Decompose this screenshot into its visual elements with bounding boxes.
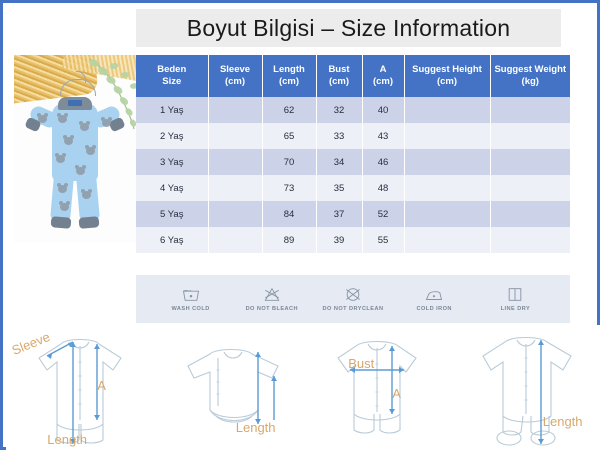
cell-size: 5 Yaş [136,201,208,227]
col-header-suggest-weight: Suggest Weight (kg) [490,55,570,97]
cell-height [404,175,490,201]
care-label: COLD IRON [416,306,451,312]
diagram-short-sleeve-romper: Bust A [306,328,448,450]
cell-size: 1 Yaş [136,97,208,123]
size-chart-page: Boyut Bilgisi – Size Information [0,0,600,450]
cell-weight [490,97,570,123]
cell-weight [490,123,570,149]
table-row: 6 Yaş 89 39 55 [136,227,570,253]
cell-size: 3 Yaş [136,149,208,175]
col-header-a: A (cm) [362,55,404,97]
diagram-label-bust: Bust [348,356,374,371]
cell-sleeve [208,149,262,175]
cell-sleeve [208,123,262,149]
col-header-sleeve: Sleeve (cm) [208,55,262,97]
cell-bust: 33 [316,123,362,149]
table-row: 1 Yaş 62 32 40 [136,97,570,123]
cell-size: 6 Yaş [136,227,208,253]
diagram-label-length: Length [236,420,276,435]
diagram-label-a: A [97,378,106,393]
romper-illustration [28,93,122,233]
col-header-suggest-height: Suggest Height (cm) [404,55,490,97]
cell-length: 84 [262,201,316,227]
cell-a: 48 [362,175,404,201]
diagram-footless-romper-front: Sleeve A Length [9,328,151,450]
short-sleeve-romper-outline [306,328,448,450]
diagram-label-a: A [392,386,401,401]
do-not-bleach-icon [262,286,282,303]
col-header-size: Beden Size [136,55,208,97]
table-row: 5 Yaş 84 37 52 [136,201,570,227]
table-row: 3 Yaş 70 34 46 [136,149,570,175]
cold-iron-icon [424,286,444,303]
cell-height [404,149,490,175]
footed-sleepsuit-outline [455,328,597,450]
cell-weight [490,227,570,253]
cell-weight [490,201,570,227]
cell-length: 89 [262,227,316,253]
diagram-label-length: Length [47,432,87,447]
care-label: LINE DRY [501,306,531,312]
cell-bust: 32 [316,97,362,123]
care-item-do-not-dryclean: DO NOT DRYCLEAN [312,286,393,312]
cell-sleeve [208,175,262,201]
table-row: 2 Yaş 65 33 43 [136,123,570,149]
cell-length: 73 [262,175,316,201]
cell-size: 2 Yaş [136,123,208,149]
cell-bust: 34 [316,149,362,175]
size-table-wrapper: Beden Size Sleeve (cm) Length (cm) Bust … [136,55,570,253]
table-row: 4 Yaş 73 35 48 [136,175,570,201]
care-label: WASH COLD [171,306,209,312]
table-header-row: Beden Size Sleeve (cm) Length (cm) Bust … [136,55,570,97]
cell-sleeve [208,227,262,253]
care-label: DO NOT BLEACH [246,306,298,312]
care-item-line-dry: LINE DRY [475,286,556,312]
diagram-bodysuit-back: Length [158,328,300,450]
cell-bust: 35 [316,175,362,201]
care-label: DO NOT DRYCLEAN [323,306,384,312]
cell-bust: 39 [316,227,362,253]
cell-height [404,123,490,149]
product-photo [14,55,136,243]
col-header-length: Length (cm) [262,55,316,97]
cell-height [404,227,490,253]
care-item-do-not-bleach: DO NOT BLEACH [231,286,312,312]
line-dry-icon [505,286,525,303]
cell-bust: 37 [316,201,362,227]
cell-weight [490,175,570,201]
size-table: Beden Size Sleeve (cm) Length (cm) Bust … [136,55,570,253]
cell-height [404,97,490,123]
cell-a: 55 [362,227,404,253]
cell-length: 62 [262,97,316,123]
cell-height [404,201,490,227]
cell-weight [490,149,570,175]
care-item-wash-cold: WASH COLD [150,286,231,312]
measurement-diagrams: Sleeve A Length [6,325,600,450]
col-header-bust: Bust (cm) [316,55,362,97]
cell-length: 70 [262,149,316,175]
cell-a: 46 [362,149,404,175]
page-title: Boyut Bilgisi – Size Information [187,15,510,42]
title-band: Boyut Bilgisi – Size Information [136,9,561,47]
cell-a: 52 [362,201,404,227]
bodysuit-outline [158,328,300,450]
cell-a: 43 [362,123,404,149]
care-instructions-band: WASH COLD DO NOT BLEACH DO NOT DRYCLEAN [136,275,570,323]
care-item-cold-iron: COLD IRON [394,286,475,312]
cell-size: 4 Yaş [136,175,208,201]
do-not-dryclean-icon [343,286,363,303]
cell-length: 65 [262,123,316,149]
cell-sleeve [208,201,262,227]
wash-cold-icon [181,286,201,303]
diagram-footed-sleepsuit: Length [455,328,597,450]
diagram-label-length: Length [543,414,583,429]
cell-sleeve [208,97,262,123]
cell-a: 40 [362,97,404,123]
